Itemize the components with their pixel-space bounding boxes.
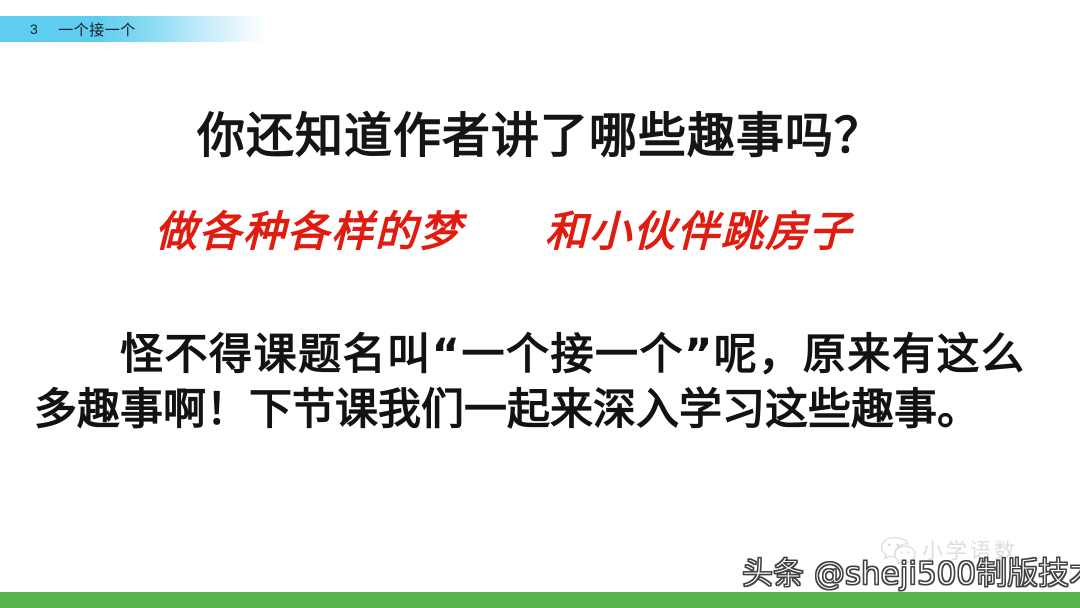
lesson-number: 3 [30, 21, 38, 37]
lesson-title: 一个接一个 [58, 19, 136, 40]
wechat-watermark-label: 小学语数 [922, 535, 1018, 565]
slide-canvas: 3 一个接一个 你还知道作者讲了哪些趣事吗？ 做各种各样的梦 和小伙伴跳房子 怪… [0, 0, 1080, 608]
wechat-icon [880, 535, 916, 565]
answer-list: 做各种各样的梦 和小伙伴跳房子 [155, 198, 1025, 259]
footer-bar [0, 592, 1080, 608]
body-paragraph: 怪不得课题名叫“一个接一个”呢，原来有这么多趣事啊！下节课我们一起来深入学习这些… [34, 328, 1024, 438]
answer-item-1: 做各种各样的梦 [155, 198, 463, 259]
toutiao-watermark-label: 头条 @sheji500制版技术 [742, 548, 1080, 593]
wechat-watermark: 小学语数 [880, 527, 1070, 573]
header-lesson-label: 3 一个接一个 [0, 16, 300, 42]
answer-item-2: 和小伙伴跳房子 [545, 198, 853, 259]
question-title: 你还知道作者讲了哪些趣事吗？ [0, 96, 1080, 166]
